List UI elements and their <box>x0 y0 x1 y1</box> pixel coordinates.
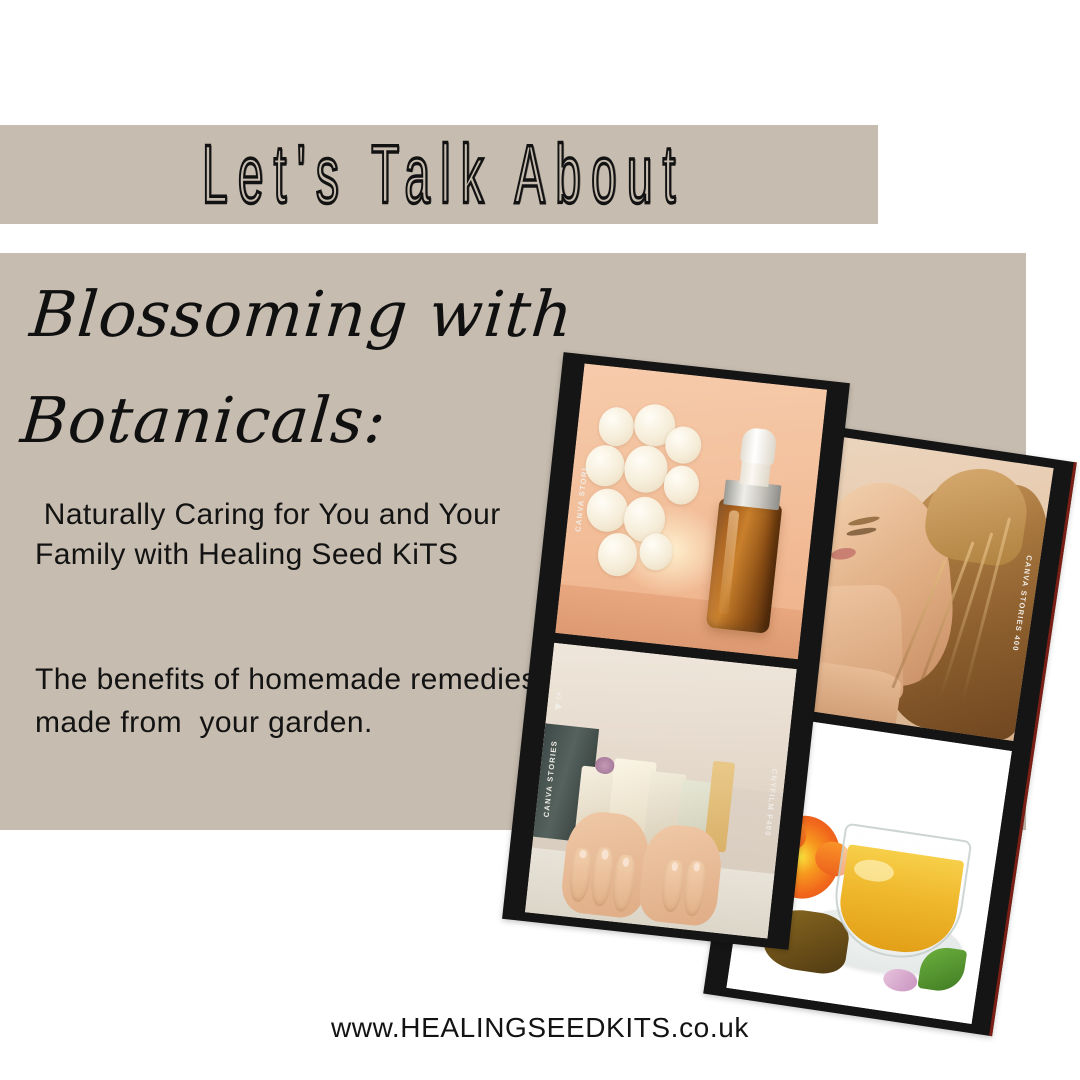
flower-cluster <box>597 406 637 449</box>
fingernail <box>601 849 609 859</box>
flower-cluster <box>638 532 675 572</box>
fingernail <box>671 862 678 871</box>
script-heading-line-1: Blossoming with <box>26 262 675 368</box>
photo-frame-soap-bars: CANVA STORIES CNYFILM F400 14 <box>525 643 797 939</box>
fingernail <box>693 862 701 872</box>
flower-cluster <box>662 464 702 507</box>
body-paragraph-1: Naturally Caring for You and Your Family… <box>35 495 535 575</box>
fingernail <box>579 850 587 859</box>
dried-flowers-icon <box>570 397 727 606</box>
flower-cluster <box>584 444 626 489</box>
body-paragraph-2: The benefits of homemade remedies made f… <box>35 658 555 744</box>
film-strip-left: CANVA STORI <box>502 352 850 950</box>
flower-cluster <box>585 487 630 534</box>
photo-oil-bottle <box>555 363 827 659</box>
photo-soap-bars <box>525 643 797 939</box>
fingernail <box>622 857 630 867</box>
poster-canvas: Let's Talk About Blossoming with Botanic… <box>0 0 1080 1080</box>
dropper-cap <box>739 427 777 466</box>
photo-frame-oil-bottle: CANVA STORI <box>555 363 827 659</box>
header-title-container: Let's Talk About <box>0 125 878 224</box>
footer-website[interactable]: www.HEALINGSEEDKITS.co.uk <box>0 1012 1080 1044</box>
page-title: Let's Talk About <box>192 127 686 223</box>
